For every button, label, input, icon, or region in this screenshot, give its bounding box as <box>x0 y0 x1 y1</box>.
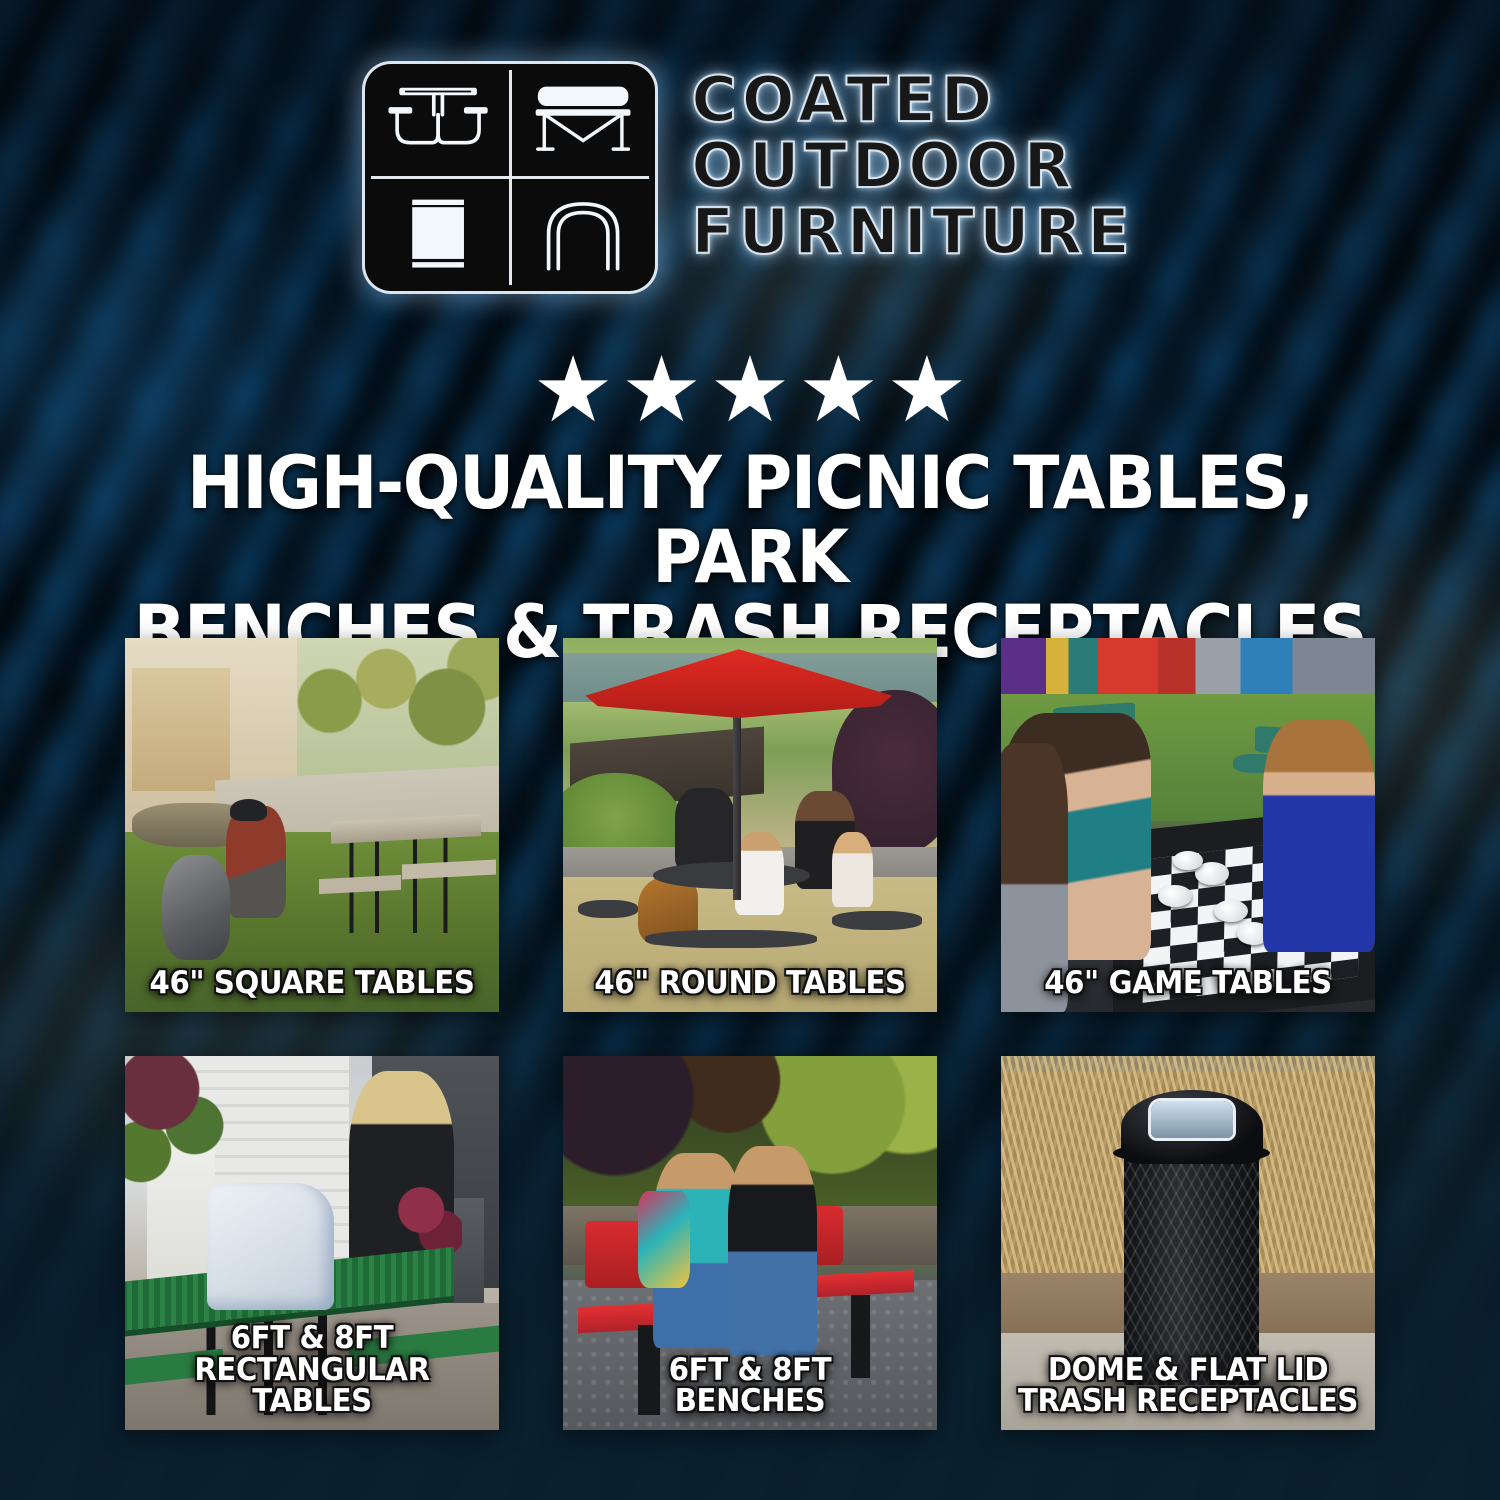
star-icon <box>802 355 874 427</box>
product-card-trash-receptacles[interactable]: DOME & FLAT LID TRASH RECEPTACLES <box>1001 1056 1375 1430</box>
product-caption: DOME & FLAT LID TRASH RECEPTACLES <box>1016 1355 1360 1418</box>
page-title: HIGH-QUALITY PICNIC TABLES, PARK BENCHES… <box>108 447 1391 670</box>
product-caption: 46" SQUARE TABLES <box>140 968 484 1000</box>
star-icon <box>537 355 609 427</box>
product-card-benches[interactable]: 6FT & 8FT BENCHES <box>563 1056 937 1430</box>
product-caption: 6FT & 8FT RECTANGULAR TABLES <box>140 1323 484 1418</box>
trash-receptacle-dome-lid-icon <box>510 178 655 292</box>
product-caption-main: 6FT & 8FT <box>231 1320 393 1356</box>
picnic-table-front-icon <box>365 64 510 178</box>
product-caption-sub: RECTANGULAR TABLES <box>140 1355 484 1418</box>
star-icon <box>714 355 786 427</box>
product-caption: 6FT & 8FT BENCHES <box>578 1355 922 1418</box>
product-card-rectangular-tables[interactable]: 6FT & 8FT RECTANGULAR TABLES <box>125 1056 499 1430</box>
product-caption-sub: BENCHES <box>578 1386 922 1418</box>
star-rating <box>0 355 1500 431</box>
trash-receptacle-flat-lid-icon <box>365 178 510 292</box>
product-caption: 46" ROUND TABLES <box>578 968 922 1000</box>
product-photo-square-tables <box>125 638 499 1012</box>
product-photo-round-tables <box>563 638 937 1012</box>
product-caption-main: 46" ROUND TABLES <box>594 965 905 1001</box>
brand-wordmark: COATED OUTDOOR FURNITURE <box>691 64 1134 262</box>
product-photo-game-tables <box>1001 638 1375 1012</box>
product-caption-main: 6FT & 8FT <box>669 1352 831 1388</box>
brand-header: COATED OUTDOOR FURNITURE <box>0 64 1500 291</box>
product-caption-main: DOME & FLAT LID <box>1048 1352 1328 1388</box>
brand-line-3: FURNITURE <box>691 202 1134 262</box>
product-caption-sub: TRASH RECEPTACLES <box>1016 1386 1360 1418</box>
product-card-game-tables[interactable]: 46" GAME TABLES <box>1001 638 1375 1012</box>
star-icon <box>891 355 963 427</box>
product-caption: 46" GAME TABLES <box>1016 968 1360 1000</box>
product-card-round-tables[interactable]: 46" ROUND TABLES <box>563 638 937 1012</box>
brand-line-2: OUTDOOR <box>691 136 1134 196</box>
product-card-square-tables[interactable]: 46" SQUARE TABLES <box>125 638 499 1012</box>
product-grid: 46" SQUARE TABLES <box>125 638 1375 1430</box>
brand-line-1: COATED <box>691 70 1134 130</box>
park-bench-side-icon <box>510 64 655 178</box>
product-caption-main: 46" SQUARE TABLES <box>150 965 475 1001</box>
headline-line-1: HIGH-QUALITY PICNIC TABLES, PARK <box>187 441 1313 600</box>
product-caption-main: 46" GAME TABLES <box>1044 965 1332 1001</box>
star-icon <box>626 355 698 427</box>
brand-logo-mark <box>365 64 655 291</box>
